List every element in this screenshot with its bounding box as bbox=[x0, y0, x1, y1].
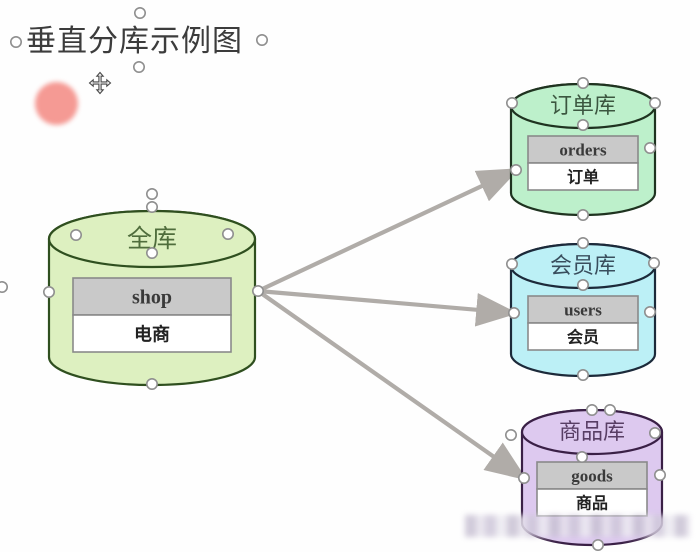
arrow-source-to-users[interactable] bbox=[258, 291, 514, 313]
selection-handle-users-db[interactable] bbox=[578, 280, 588, 290]
selection-handle-orders-db[interactable] bbox=[645, 143, 655, 153]
nodes-layer: 全库shop电商订单库orders订单会员库users会员商品库goods商品 bbox=[49, 84, 662, 545]
table-header-label: orders bbox=[559, 141, 607, 160]
selection-handle-orders-db[interactable] bbox=[511, 165, 521, 175]
selection-handle-goods-db[interactable] bbox=[655, 470, 665, 480]
diagram-canvas: 全库shop电商订单库orders订单会员库users会员商品库goods商品 … bbox=[0, 0, 700, 552]
move-cursor-icon bbox=[88, 71, 112, 95]
arrow-source-to-orders[interactable] bbox=[258, 170, 516, 291]
selection-handle-source-db[interactable] bbox=[147, 202, 157, 212]
selection-handle-goods-db[interactable] bbox=[605, 405, 615, 415]
selection-handle-goods-db[interactable] bbox=[506, 430, 516, 440]
selection-handle-title[interactable] bbox=[257, 35, 267, 45]
selection-handle-orders-db[interactable] bbox=[650, 98, 660, 108]
selection-handle-goods-db[interactable] bbox=[519, 473, 529, 483]
selection-handle-users-db[interactable] bbox=[578, 238, 588, 248]
selection-handle-goods-db[interactable] bbox=[593, 540, 603, 550]
table-body-label: 电商 bbox=[134, 324, 170, 346]
cylinder-label: 订单库 bbox=[550, 94, 616, 119]
pink-highlight-blob bbox=[35, 82, 78, 125]
selection-handle-orders-db[interactable] bbox=[578, 78, 588, 88]
selection-handle-users-db[interactable] bbox=[649, 258, 659, 268]
arrow-source-to-goods[interactable] bbox=[258, 291, 524, 478]
selection-handle-source-db[interactable] bbox=[147, 189, 157, 199]
selection-handle-title[interactable] bbox=[134, 62, 144, 72]
selection-handle-users-db[interactable] bbox=[509, 308, 519, 318]
selection-handle-offscreen[interactable] bbox=[0, 282, 7, 292]
cylinder-label: 商品库 bbox=[559, 420, 625, 445]
selection-handle-goods-db[interactable] bbox=[650, 428, 660, 438]
selection-handle-title[interactable] bbox=[11, 37, 21, 47]
selection-handle-source-db[interactable] bbox=[147, 379, 157, 389]
selection-handle-users-db[interactable] bbox=[507, 259, 517, 269]
selection-handle-orders-db[interactable] bbox=[578, 120, 588, 130]
selection-handle-source-db[interactable] bbox=[253, 286, 263, 296]
table-header-label: users bbox=[564, 301, 602, 320]
cylinder-label: 会员库 bbox=[550, 254, 616, 279]
page-title[interactable]: 垂直分库示例图 bbox=[26, 16, 243, 60]
selection-handle-orders-db[interactable] bbox=[507, 98, 517, 108]
selection-handle-users-db[interactable] bbox=[645, 307, 655, 317]
selection-handle-source-db[interactable] bbox=[147, 248, 157, 258]
users-database-cylinder[interactable]: 会员库users会员 bbox=[511, 244, 655, 376]
table-header-label: shop bbox=[132, 287, 172, 309]
move-cursor bbox=[88, 71, 112, 100]
selection-handle-goods-db[interactable] bbox=[577, 452, 587, 462]
arrows-layer bbox=[258, 170, 524, 478]
table-body-label: 商品 bbox=[576, 494, 608, 513]
selection-handle-source-db[interactable] bbox=[71, 230, 81, 240]
page-title-label: 垂直分库示例图 bbox=[26, 24, 243, 59]
selection-handle-source-db[interactable] bbox=[223, 229, 233, 239]
selection-handle-orders-db[interactable] bbox=[578, 210, 588, 220]
table-body-label: 订单 bbox=[567, 168, 599, 187]
goods-database-cylinder[interactable]: 商品库goods商品 bbox=[522, 410, 662, 545]
selection-handle-goods-db[interactable] bbox=[587, 405, 597, 415]
table-header-label: goods bbox=[571, 467, 613, 486]
table-body-label: 会员 bbox=[567, 328, 599, 347]
orders-database-cylinder[interactable]: 订单库orders订单 bbox=[511, 84, 655, 215]
selection-handle-source-db[interactable] bbox=[44, 287, 54, 297]
selection-handle-users-db[interactable] bbox=[578, 370, 588, 380]
